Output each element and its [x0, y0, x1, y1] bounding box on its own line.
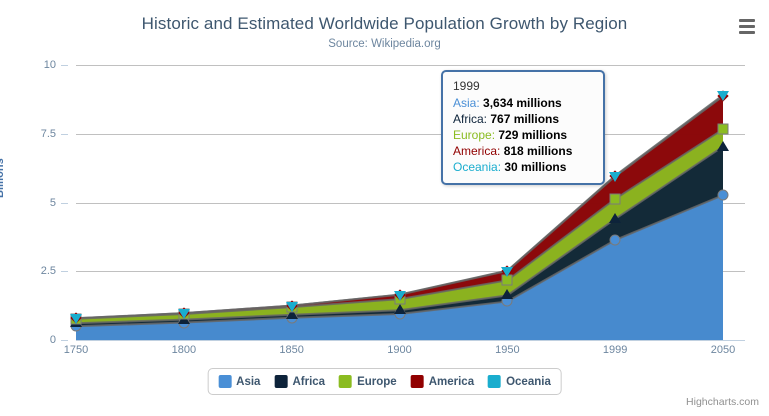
- legend-swatch-icon: [218, 375, 231, 388]
- chart-title: Historic and Estimated Worldwide Populat…: [0, 14, 769, 34]
- y-axis-label: 10: [44, 59, 56, 71]
- tooltip-series-value: 818 millions: [504, 144, 573, 158]
- y-axis-label: 7.5: [41, 128, 56, 140]
- x-axis-label: 2050: [711, 344, 735, 356]
- tooltip-row: Africa: 767 millions: [453, 111, 593, 127]
- x-axis-label: 1750: [64, 344, 88, 356]
- y-axis: 02.557.510: [0, 65, 68, 341]
- legend-label: Europe: [357, 376, 397, 388]
- tooltip-series-value: 729 millions: [498, 128, 567, 142]
- tooltip-series-value: 767 millions: [490, 112, 559, 126]
- x-axis-label: 1950: [495, 344, 519, 356]
- tooltip-series-name: Africa:: [453, 112, 490, 126]
- legend-item-asia[interactable]: Asia: [218, 375, 260, 388]
- legend-swatch-icon: [274, 375, 287, 388]
- tooltip-row: Oceania: 30 millions: [453, 159, 593, 175]
- y-axis-label: 0: [50, 334, 56, 346]
- tooltip-header: 1999: [453, 79, 593, 93]
- legend-label: Africa: [292, 376, 325, 388]
- chart-subtitle: Source: Wikipedia.org: [0, 38, 769, 50]
- x-axis-label: 1900: [387, 344, 411, 356]
- x-axis-label: 1800: [172, 344, 196, 356]
- tooltip-series-name: Asia:: [453, 96, 483, 110]
- highcharts-container: Historic and Estimated Worldwide Populat…: [0, 0, 769, 416]
- hamburger-bar-1: [739, 19, 755, 22]
- tooltip-row: Asia: 3,634 millions: [453, 95, 593, 111]
- y-axis-tick: [61, 203, 68, 204]
- tooltip-series-name: Oceania:: [453, 160, 504, 174]
- tooltip: 1999 Asia: 3,634 millionsAfrica: 767 mil…: [441, 70, 605, 185]
- tooltip-row: Europe: 729 millions: [453, 127, 593, 143]
- y-axis-tick: [61, 134, 68, 135]
- credits-label: Highcharts.com: [686, 396, 759, 408]
- hamburger-bar-3: [739, 31, 755, 34]
- y-axis-title: Billions: [0, 158, 6, 198]
- y-axis-tick: [61, 65, 68, 66]
- tooltip-row: America: 818 millions: [453, 143, 593, 159]
- legend-item-africa[interactable]: Africa: [274, 375, 325, 388]
- x-axis: 1750180018501900195019992050: [76, 344, 723, 364]
- x-axis-label: 1850: [279, 344, 303, 356]
- tooltip-series-name: Europe:: [453, 128, 498, 142]
- legend-swatch-icon: [339, 375, 352, 388]
- hamburger-bar-2: [739, 25, 755, 28]
- legend-item-europe[interactable]: Europe: [339, 375, 397, 388]
- y-axis-label: 5: [50, 197, 56, 209]
- tooltip-series-value: 3,634 millions: [483, 96, 562, 110]
- y-axis-label: 2.5: [41, 265, 56, 277]
- legend-swatch-icon: [488, 375, 501, 388]
- legend-label: America: [429, 376, 474, 388]
- legend-item-oceania[interactable]: Oceania: [488, 375, 551, 388]
- legend-swatch-icon: [411, 375, 424, 388]
- x-axis-label: 1999: [603, 344, 627, 356]
- chart-legend[interactable]: AsiaAfricaEuropeAmericaOceania: [207, 368, 562, 395]
- legend-label: Asia: [236, 376, 260, 388]
- tooltip-series-name: America:: [453, 144, 504, 158]
- legend-item-america[interactable]: America: [411, 375, 474, 388]
- plot-area: [76, 65, 723, 340]
- tooltip-series-value: 30 millions: [504, 160, 566, 174]
- x-axis-line: [76, 340, 745, 341]
- hamburger-icon[interactable]: [733, 14, 761, 38]
- y-axis-tick: [61, 340, 68, 341]
- legend-label: Oceania: [506, 376, 551, 388]
- y-axis-tick: [61, 271, 68, 272]
